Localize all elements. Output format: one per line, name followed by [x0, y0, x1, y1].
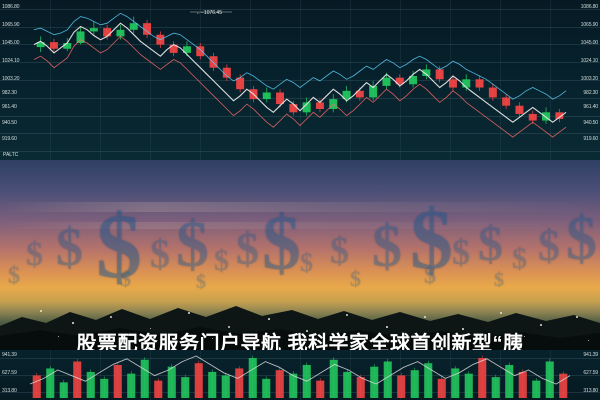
dollar-sign-7: $: [262, 204, 301, 282]
bottom-axis-right-tick-1: 627.59: [583, 370, 598, 376]
dollar-sign-3: $: [150, 234, 170, 274]
dollar-sign-0: $: [26, 238, 43, 272]
dollar-sign-18: $: [120, 268, 131, 290]
page-headline: 股票配资服务门户导航 我科学家全球首创新型“胰 岛零件”: [0, 330, 600, 350]
dollar-sign-2: $: [96, 200, 142, 292]
dollar-sign-20: $: [350, 268, 361, 290]
top-chart-left-label: PALTC: [3, 152, 18, 158]
top-axis-right-tick-6: 961.40: [583, 104, 598, 110]
top-axis-left-tick-7: 940.50: [2, 120, 17, 126]
dollar-sign-4: $: [176, 212, 209, 278]
top-axis-left-tick-1: 1065.90: [2, 22, 19, 28]
bottom-axis-left-tick-2: 313.80: [2, 388, 17, 394]
dollar-sign-13: $: [478, 218, 503, 268]
top-axis-right-tick-7: 940.50: [583, 120, 598, 126]
dollar-sign-21: $: [424, 264, 436, 288]
bottom-chart-plot: [0, 350, 600, 400]
dollar-sign-9: $: [330, 232, 349, 270]
top-axis-left-tick-3: 1024.10: [2, 58, 19, 64]
top-axis-right-tick-0: 1086.80: [581, 4, 598, 10]
dollar-sign-8: $: [300, 250, 313, 276]
bottom-axis-left-tick-0: 941.39: [2, 352, 17, 358]
dollar-sign-14: $: [512, 244, 527, 274]
top-chart-plot: [0, 0, 600, 160]
top-axis-left-tick-6: 961.40: [2, 104, 17, 110]
top-axis-left-tick-8: 919.60: [2, 136, 17, 142]
top-axis-left-tick-0: 1086.80: [2, 4, 19, 10]
headline-line-1: 股票配资服务门户导航 我科学家全球首创新型“胰: [0, 330, 600, 350]
dollar-sign-16: $: [566, 208, 597, 270]
bottom-chart-panel: 941.39 627.59 313.80 941.39 627.59 313.8…: [0, 350, 600, 400]
bottom-axis-right-tick-0: 941.39: [583, 352, 598, 358]
top-axis-right-tick-1: 1065.90: [581, 22, 598, 28]
top-axis-left-tick-5: 982.30: [2, 90, 17, 96]
dollar-sign-19: $: [196, 272, 206, 292]
top-axis-right-tick-3: 1024.10: [581, 58, 598, 64]
page-root: 1086.80 1065.90 1045.00 1024.10 1003.20 …: [0, 0, 600, 400]
top-axis-right-tick-5: 982.30: [583, 90, 598, 96]
dollar-sign-overlay: $$$$$$$$$$$$$$$$$$$$$$$: [0, 160, 600, 350]
dollar-sign-10: $: [372, 216, 402, 276]
top-axis-right-tick-4: 1003.20: [581, 76, 598, 82]
dollar-sign-17: $: [8, 264, 20, 288]
dollar-sign-1: $: [56, 220, 83, 274]
dollar-sign-5: $: [214, 246, 229, 276]
dollar-sign-6: $: [236, 226, 259, 272]
dollar-sign-15: $: [538, 224, 560, 268]
bottom-axis-right-tick-2: 313.80: [583, 388, 598, 394]
top-axis-left-tick-4: 1003.20: [2, 76, 19, 82]
bottom-axis-left-tick-1: 627.59: [2, 370, 17, 376]
dollar-sign-12: $: [452, 234, 470, 270]
hero-image: $$$$$$$$$$$$$$$$$$$$$$$ 股票配资服务门户导航 我科学家全…: [0, 160, 600, 350]
top-chart-panel: 1086.80 1065.90 1045.00 1024.10 1003.20 …: [0, 0, 600, 160]
top-axis-left-tick-2: 1045.00: [2, 40, 19, 46]
top-chart-annotation: ←−1076.45: [196, 10, 222, 16]
dollar-sign-22: $: [494, 270, 504, 290]
top-axis-right-tick-8: 919.60: [583, 136, 598, 142]
top-axis-right-tick-2: 1045.00: [581, 40, 598, 46]
